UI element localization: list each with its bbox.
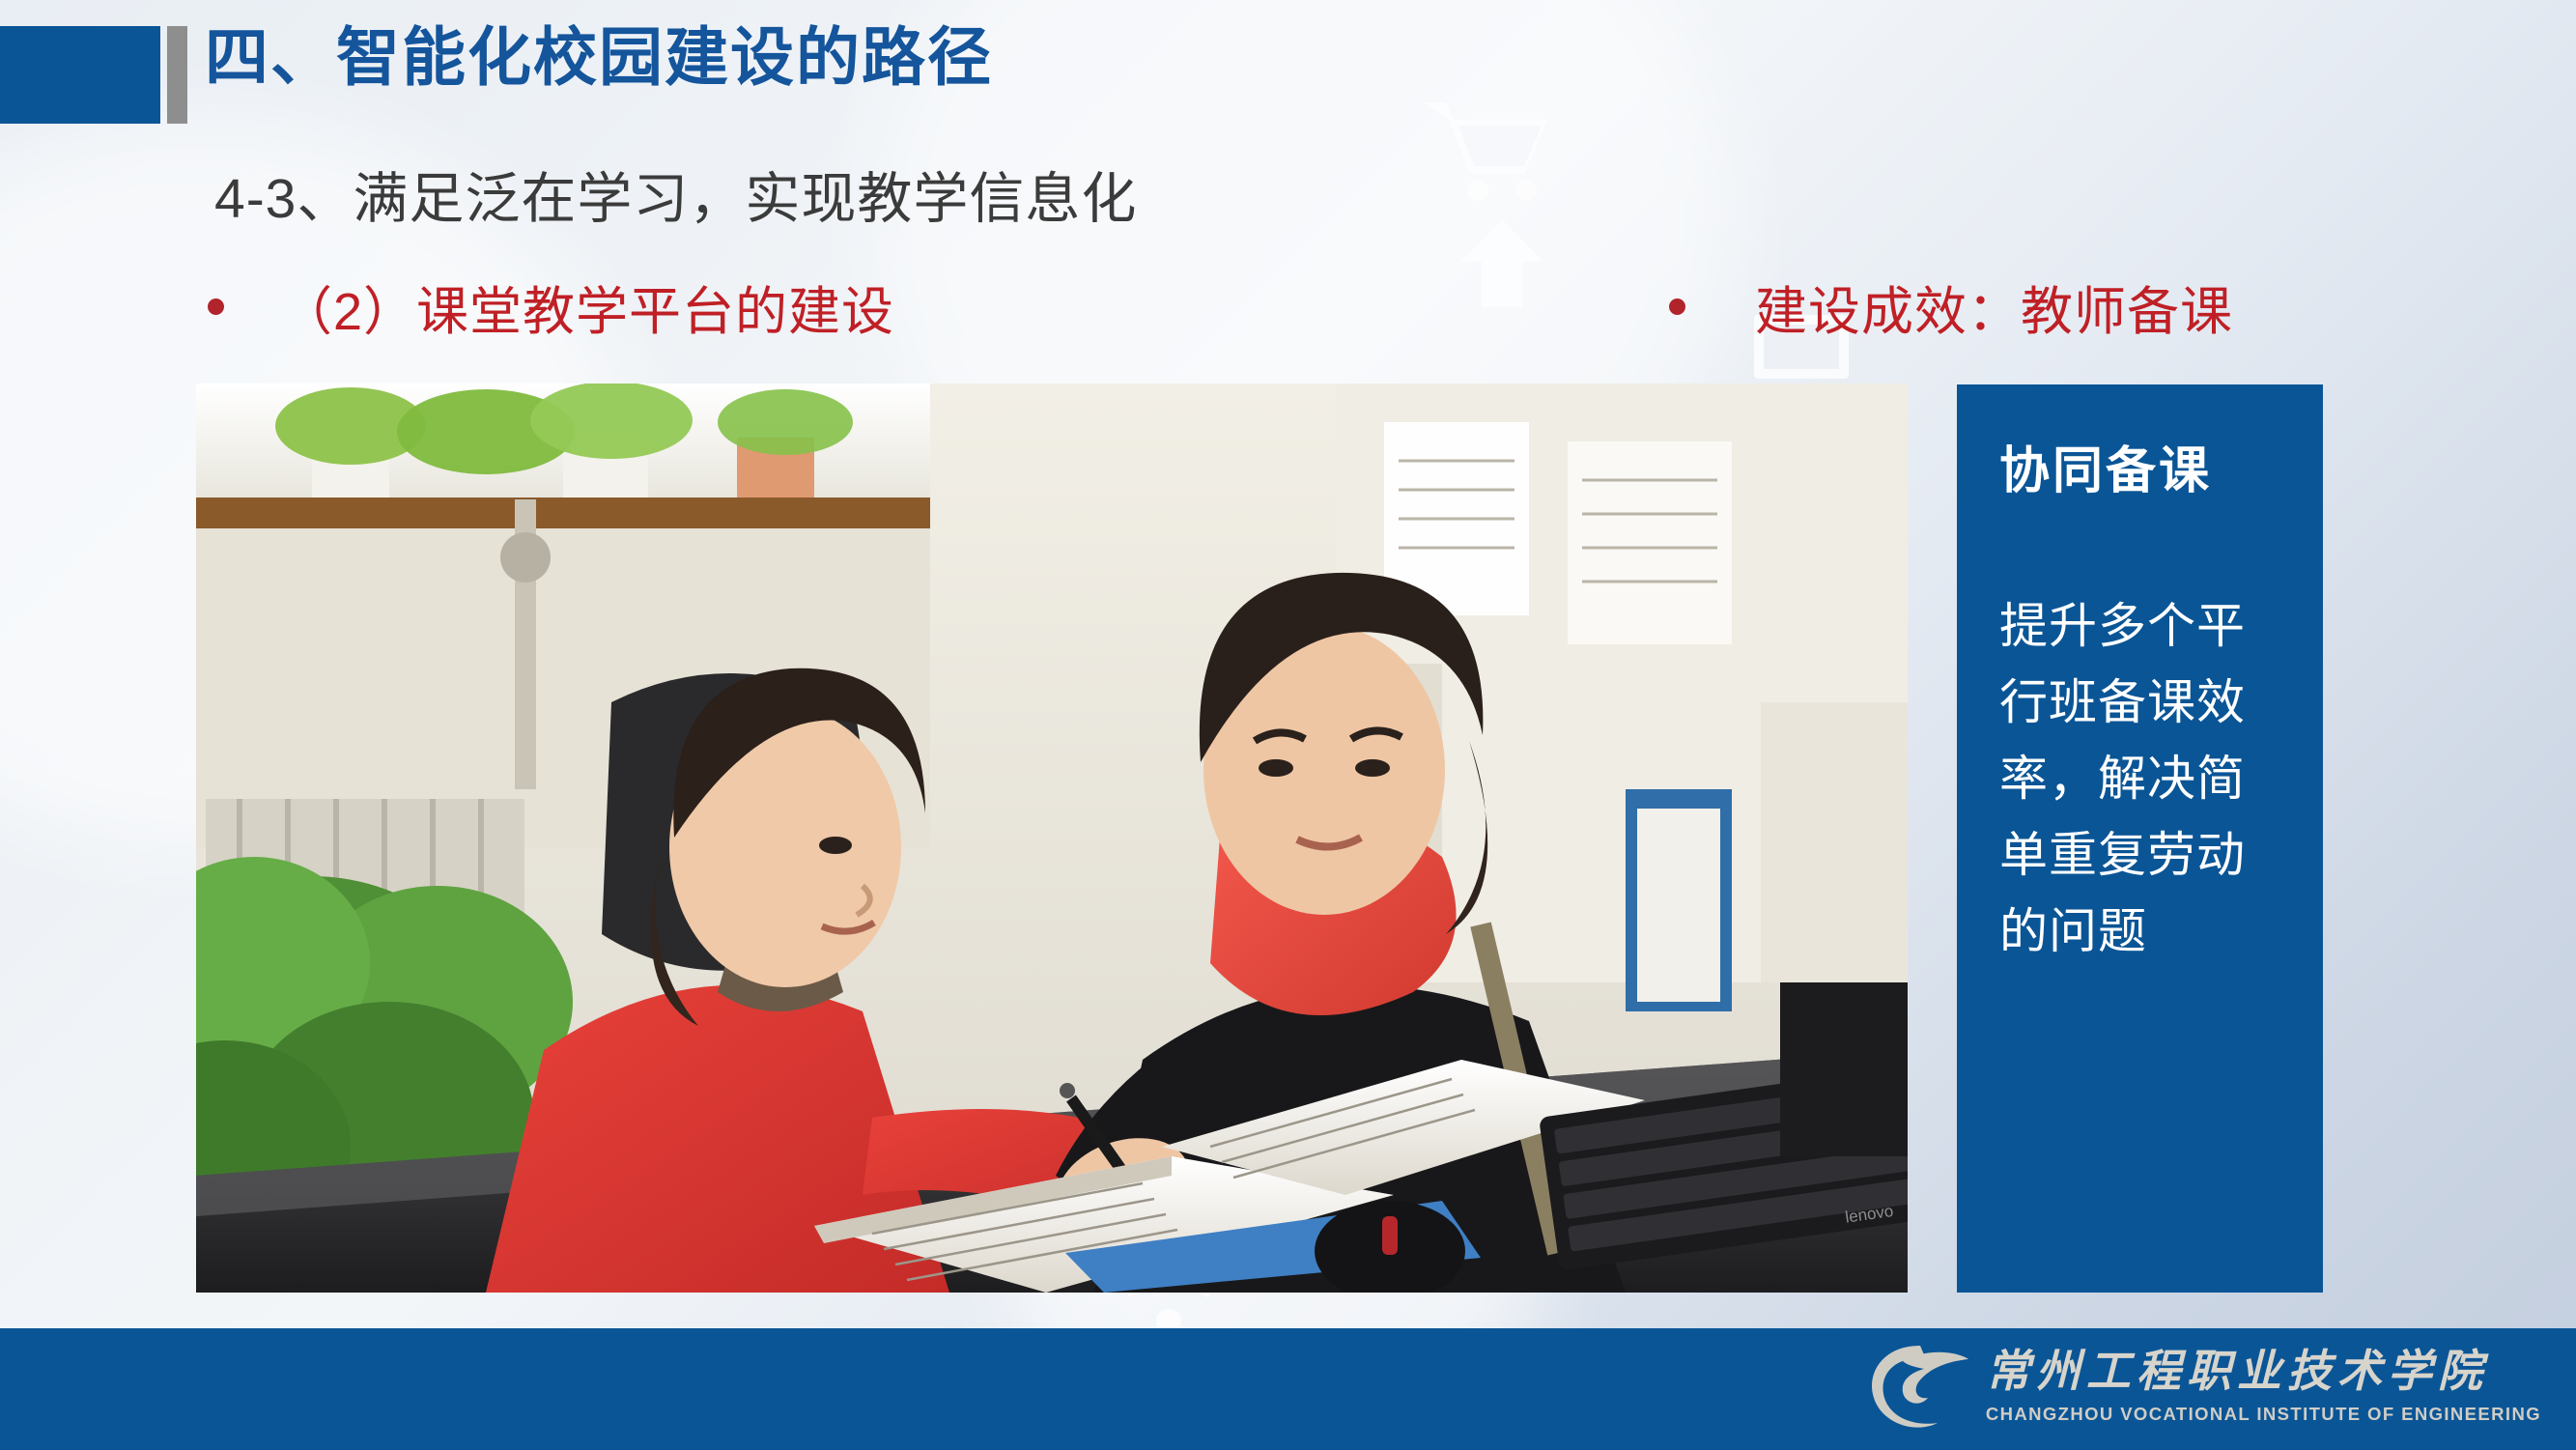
logo-name-cn: 常州工程职业技术学院 xyxy=(1986,1348,2541,1397)
title-accent-square xyxy=(0,26,160,124)
slide-canvas: 四、智能化校园建设的路径 4-3、满足泛在学习，实现教学信息化 （2）课堂教学平… xyxy=(0,0,2576,1450)
shopping-cart-icon xyxy=(1420,97,1555,203)
slide-subtitle: 4-3、满足泛在学习，实现教学信息化 xyxy=(214,155,1137,234)
bullet-dot-icon xyxy=(208,299,224,315)
institution-logo: 常州工程职业技术学院 CHANGZHOU VOCATIONAL INSTITUT… xyxy=(1864,1338,2541,1435)
bullet-item-right: 建设成效：教师备课 xyxy=(1669,269,2233,345)
classroom-preparation-photo: lenovo xyxy=(196,384,1908,1293)
bullet-item-left: （2）课堂教学平台的建设 xyxy=(208,269,894,345)
title-accent-bar xyxy=(167,26,187,124)
page-title: 四、智能化校园建设的路径 xyxy=(205,21,993,95)
swoosh-logo-icon xyxy=(1864,1338,1970,1435)
callout-panel-title: 协同备课 xyxy=(1999,441,2288,503)
logo-text-block: 常州工程职业技术学院 CHANGZHOU VOCATIONAL INSTITUT… xyxy=(1986,1348,2541,1425)
callout-panel: 协同备课 提升多个平行班备课效率，解决简单重复劳动的问题 xyxy=(1957,384,2323,1293)
bullet-dot-icon xyxy=(1669,299,1685,315)
bullet-label-left: （2）课堂教学平台的建设 xyxy=(280,269,894,345)
bullet-label-right: 建设成效：教师备课 xyxy=(1755,269,2233,345)
callout-panel-body: 提升多个平行班备课效率，解决简单重复劳动的问题 xyxy=(1999,588,2288,970)
logo-name-en: CHANGZHOU VOCATIONAL INSTITUTE OF ENGINE… xyxy=(1986,1404,2541,1425)
up-arrow-icon xyxy=(1458,217,1545,309)
